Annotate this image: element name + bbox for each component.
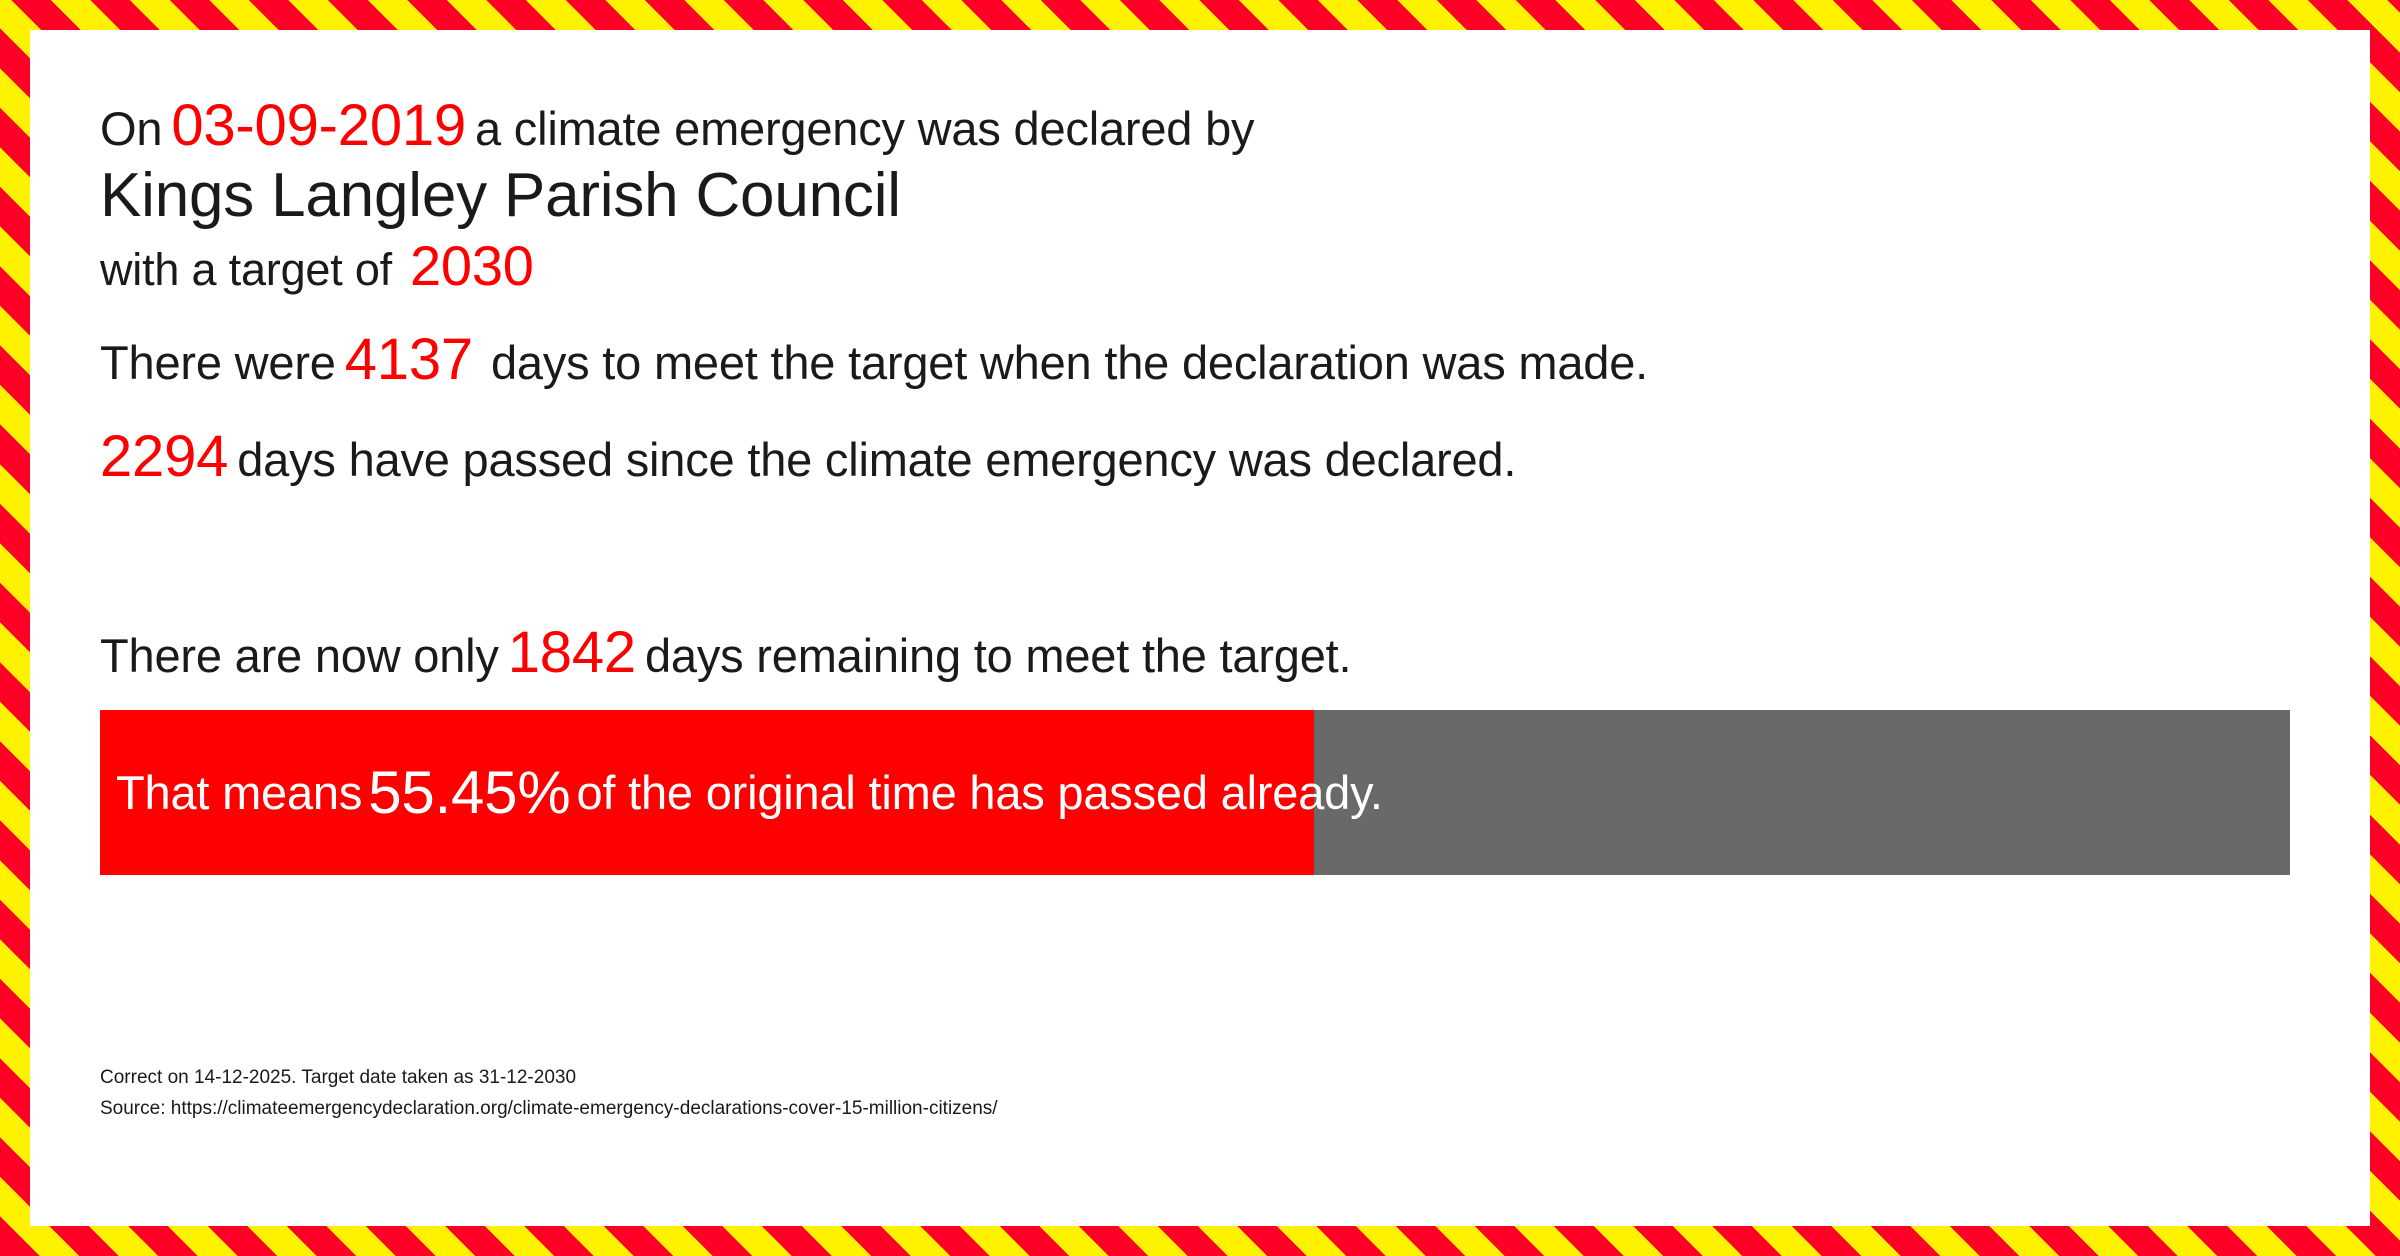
progress-percent: 55.45%: [362, 758, 576, 827]
declaration-suffix: a climate emergency was declared by: [475, 102, 1254, 155]
target-prefix: with a target of: [100, 244, 392, 295]
footer-notes: Correct on 14-12-2025. Target date taken…: [100, 1062, 998, 1124]
footer-correct-on: Correct on 14-12-2025. Target date taken…: [100, 1062, 998, 1093]
days-remaining-value: 1842: [508, 620, 636, 685]
poster-content: On03-09-2019a climate emergency was decl…: [100, 30, 2370, 1226]
days-to-target-suffix: days to meet the target when the declara…: [491, 336, 1648, 389]
footer-source: Source: https://climateemergencydeclarat…: [100, 1093, 998, 1124]
declaring-authority: Kings Langley Parish Council: [100, 160, 901, 231]
progress-suffix: of the original time has passed already.: [576, 765, 1382, 820]
days-passed-value: 2294: [100, 424, 228, 489]
days-to-target-prefix: There were: [100, 336, 336, 389]
progress-label: That means55.45%of the original time has…: [116, 710, 1383, 875]
days-remaining-line: There are now only1842days remaining to …: [100, 619, 1351, 686]
target-year: 2030: [410, 234, 534, 297]
poster-panel: On03-09-2019a climate emergency was decl…: [30, 30, 2370, 1226]
days-to-target-line: There were4137days to meet the target wh…: [100, 326, 1648, 393]
time-elapsed-progress-bar: That means55.45%of the original time has…: [100, 710, 2290, 875]
poster-frame: On03-09-2019a climate emergency was decl…: [0, 0, 2400, 1256]
days-passed-suffix: days have passed since the climate emerg…: [237, 433, 1516, 486]
progress-prefix: That means: [116, 765, 362, 820]
target-line: with a target of2030: [100, 233, 534, 298]
declaration-prefix: On: [100, 102, 162, 155]
declaration-headline: On03-09-2019a climate emergency was decl…: [100, 92, 1254, 159]
days-remaining-prefix: There are now only: [100, 629, 499, 682]
declaration-date: 03-09-2019: [171, 93, 466, 158]
days-to-target-value: 4137: [345, 327, 473, 392]
days-remaining-suffix: days remaining to meet the target.: [645, 629, 1351, 682]
days-passed-line: 2294days have passed since the climate e…: [100, 423, 1516, 490]
